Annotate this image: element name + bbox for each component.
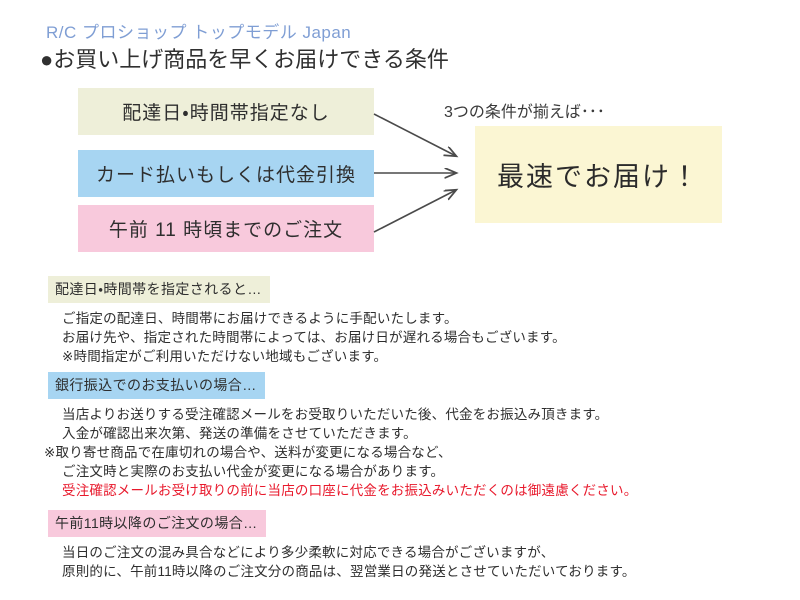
body-line: ご注文時と実際のお支払い代金が変更になる場合があります。 — [62, 462, 800, 481]
body-line: 原則的に、午前11時以降のご注文分の商品は、翌営業日の発送とさせていただいており… — [62, 562, 800, 581]
site-title: R/C プロショップ トップモデル Japan — [46, 18, 351, 43]
section-heading: 午前11時以降のご注文の場合… — [48, 510, 266, 537]
page-headline: ●お買い上げ商品を早くお届けできる条件 — [40, 42, 449, 74]
section-body: 当日のご注文の混み具合などにより多少柔軟に対応できる場合がございますが、 原則的… — [0, 543, 800, 581]
section-bank-transfer: 銀行振込でのお支払いの場合… 当店よりお送りする受注確認メールをお受取りいただい… — [0, 372, 800, 500]
body-line: お届け先や、指定された時間帯によっては、お届け日が遅れる場合もございます。 — [62, 328, 800, 347]
body-line: 当日のご注文の混み具合などにより多少柔軟に対応できる場合がございますが、 — [62, 543, 800, 562]
conditions-caption: 3つの条件が揃えば･･･ — [444, 98, 605, 122]
section-heading: 配達日・時間帯を指定されると… — [48, 276, 270, 303]
section-body: ご指定の配達日、時間帯にお届けできるように手配いたします。 お届け先や、指定され… — [0, 309, 800, 366]
condition-box-delivery-date: 配達日・時間帯指定なし — [78, 88, 374, 135]
body-line-note: ※取り寄せ商品で在庫切れの場合や、送料が変更になる場合など、 — [44, 443, 800, 462]
body-line: ご指定の配達日、時間帯にお届けできるように手配いたします。 — [62, 309, 800, 328]
section-after-11am-order: 午前11時以降のご注文の場合… 当日のご注文の混み具合などにより多少柔軟に対応で… — [0, 510, 800, 581]
condition-box-payment-method: カード払いもしくは代金引換 — [78, 150, 374, 197]
body-line: ※時間指定がご利用いただけない地域もございます。 — [62, 347, 800, 366]
result-box-fastest-delivery: 最速でお届け！ — [475, 126, 722, 223]
page-root: R/C プロショップ トップモデル Japan ●お買い上げ商品を早くお届けでき… — [0, 0, 800, 600]
body-line-warning: 受注確認メールお受け取りの前に当店の口座に代金をお振込みいただくのは御遠慮くださ… — [62, 481, 800, 500]
section-body: 当店よりお送りする受注確認メールをお受取りいただいた後、代金をお振込み頂きます。… — [0, 405, 800, 500]
condition-box-order-time: 午前 11 時頃までのご注文 — [78, 205, 374, 252]
body-line: 入金が確認出来次第、発送の準備をさせていただきます。 — [62, 424, 800, 443]
body-line: 当店よりお送りする受注確認メールをお受取りいただいた後、代金をお振込み頂きます。 — [62, 405, 800, 424]
section-heading: 銀行振込でのお支払いの場合… — [48, 372, 265, 399]
section-delivery-date-specified: 配達日・時間帯を指定されると… ご指定の配達日、時間帯にお届けできるように手配い… — [0, 276, 800, 366]
